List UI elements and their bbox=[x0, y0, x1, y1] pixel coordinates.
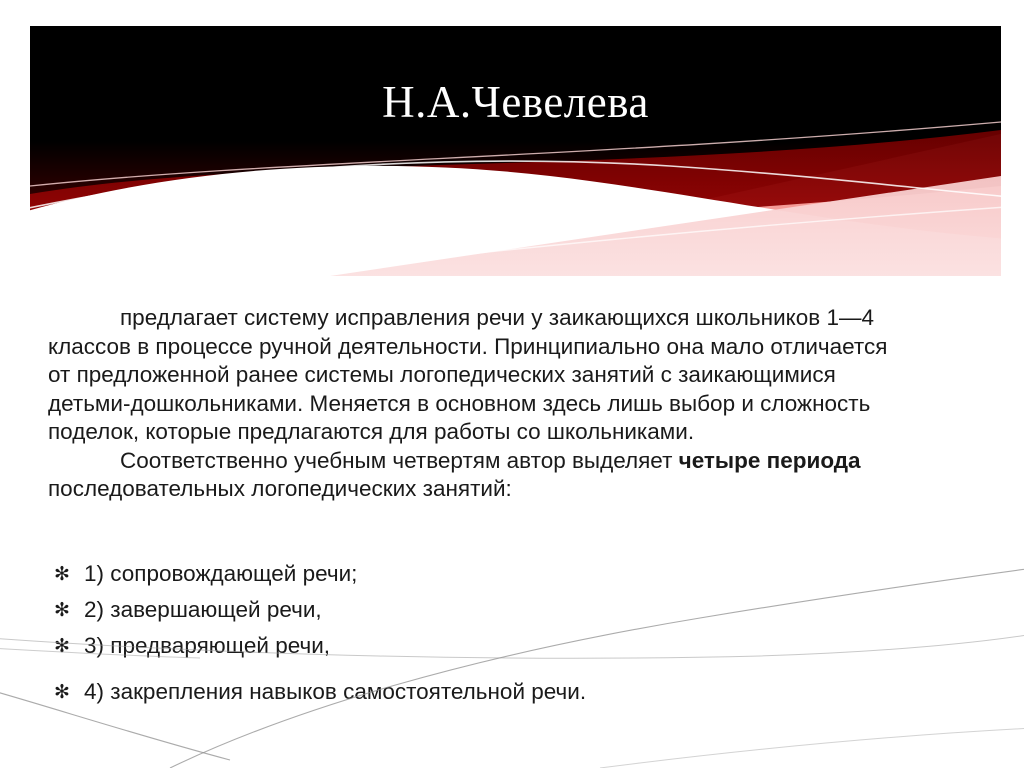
presentation-slide: Н.А.Чевелева предлагает систему исправле… bbox=[0, 0, 1024, 768]
body-text-block: предлагает систему исправления речи у за… bbox=[48, 304, 888, 504]
paragraph-1: предлагает систему исправления речи у за… bbox=[48, 304, 888, 447]
slide-title: Н.А.Чевелева bbox=[30, 76, 1001, 128]
paragraph-2-emphasis: четыре периода bbox=[679, 448, 861, 473]
paragraph-2-lead: Соответственно учебным четвертям автор в… bbox=[120, 448, 679, 473]
paragraph-2-tail: последовательных логопедических занятий: bbox=[48, 476, 512, 501]
paragraph-2: Соответственно учебным четвертям автор в… bbox=[48, 447, 888, 504]
corner-decoration-lines bbox=[0, 560, 1024, 768]
header-banner-graphic bbox=[30, 26, 1001, 276]
banner-svg bbox=[30, 26, 1001, 276]
corner-decor-svg bbox=[0, 560, 1024, 768]
